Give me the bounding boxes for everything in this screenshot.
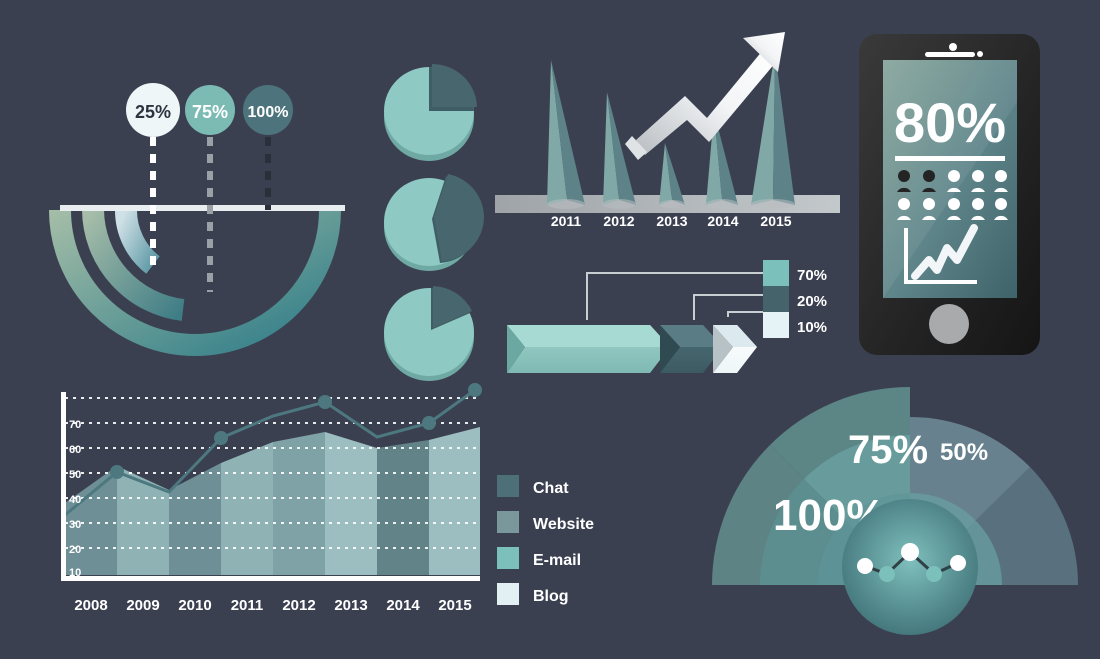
- y-axis: [61, 392, 66, 580]
- funnel-legend-label-20: 20%: [797, 293, 827, 310]
- funnel-legend-label-10: 10%: [797, 319, 827, 336]
- fan-label-75: 75%: [848, 428, 928, 472]
- channel-legend: Chat Website E-mail Blog: [495, 470, 625, 610]
- cone-bar-chart: 2011 2012 2013 2014 2015: [495, 30, 840, 230]
- sensor-dot: [977, 51, 983, 57]
- legend-swatch-email[interactable]: [497, 547, 519, 569]
- phone-percent-value: 80%: [894, 91, 1006, 154]
- y-tick-30: 30: [69, 519, 81, 531]
- x-tick-2008: 2008: [74, 597, 107, 614]
- area-line-chart: 70 60 50 40 30 20 10 2008 2009 2010 2011…: [45, 380, 495, 625]
- cone-label-2012: 2012: [603, 213, 634, 229]
- cone-label-2015: 2015: [760, 213, 791, 229]
- x-axis: [61, 576, 480, 581]
- x-tick-2015: 2015: [438, 597, 471, 614]
- badge-100-label: 100%: [248, 104, 289, 121]
- upward-trend-arrow: [625, 32, 785, 160]
- x-tick-2011: 2011: [231, 597, 264, 614]
- pie-charts-column: [382, 45, 492, 365]
- legend-label-blog: Blog: [533, 588, 569, 605]
- cone-2011[interactable]: [547, 60, 585, 209]
- legend-label-chat: Chat: [533, 480, 569, 497]
- cone-label-2013: 2013: [656, 213, 687, 229]
- pie-chart-slice[interactable]: [384, 286, 474, 381]
- y-tick-70: 70: [69, 419, 81, 431]
- mini-chart-point: [857, 558, 873, 574]
- badge-25-label: 25%: [135, 102, 171, 122]
- gauge-badges-panel: 25% 75% 100%: [40, 60, 380, 370]
- y-tick-10: 10: [69, 567, 81, 579]
- legend-swatch-chat[interactable]: [497, 475, 519, 497]
- x-tick-2014: 2014: [386, 597, 420, 614]
- radial-arc-inner: [126, 210, 153, 265]
- phone-divider: [895, 156, 1005, 161]
- y-tick-20: 20: [69, 544, 81, 556]
- data-point: [468, 383, 482, 397]
- badge-75-label: 75%: [192, 102, 228, 122]
- funnel-chevron-chart: 70% 20% 10%: [495, 255, 835, 380]
- home-button[interactable]: [929, 304, 969, 344]
- funnel-legend-swatch-10[interactable]: [763, 312, 789, 338]
- speaker-grille: [925, 52, 975, 57]
- pie-chart-half[interactable]: [384, 174, 484, 271]
- data-point: [110, 465, 124, 479]
- cone-label-2014: 2014: [707, 213, 738, 229]
- cone-label-2011: 2011: [551, 213, 582, 229]
- data-point: [422, 416, 436, 430]
- legend-swatch-blog[interactable]: [497, 583, 519, 605]
- x-tick-2009: 2009: [126, 597, 159, 614]
- smartphone-mockup: 80%: [857, 32, 1042, 357]
- y-tick-40: 40: [69, 494, 81, 506]
- funnel-segment-70[interactable]: [507, 325, 670, 373]
- x-tick-2012: 2012: [282, 597, 315, 614]
- cone-2013[interactable]: [659, 143, 685, 208]
- infographic-canvas: 25% 75% 100%: [0, 0, 1100, 659]
- mini-chart-point: [879, 566, 895, 582]
- y-tick-50: 50: [69, 469, 81, 481]
- funnel-segment-10[interactable]: [713, 325, 757, 373]
- mini-chart-point: [950, 555, 966, 571]
- gauge-baseline: [60, 205, 345, 211]
- data-point: [318, 395, 332, 409]
- funnel-legend-swatch-70[interactable]: [763, 260, 789, 286]
- legend-label-website: Website: [533, 516, 594, 533]
- camera-dot: [949, 43, 957, 51]
- funnel-legend-label-70: 70%: [797, 267, 827, 284]
- radial-fan-gauge: 100% 75% 50%: [675, 385, 1085, 620]
- y-tick-60: 60: [69, 444, 81, 456]
- funnel-legend-swatch-20[interactable]: [763, 286, 789, 312]
- data-point: [214, 431, 228, 445]
- mini-chart-point: [901, 543, 919, 561]
- legend-label-email: E-mail: [533, 552, 581, 569]
- x-tick-2010: 2010: [178, 597, 211, 614]
- mini-chart-point: [926, 566, 942, 582]
- pie-chart-quarter[interactable]: [384, 64, 477, 161]
- legend-swatch-website[interactable]: [497, 511, 519, 533]
- x-tick-2013: 2013: [334, 597, 367, 614]
- fan-label-50: 50%: [940, 439, 988, 466]
- funnel-connectors: [587, 273, 763, 320]
